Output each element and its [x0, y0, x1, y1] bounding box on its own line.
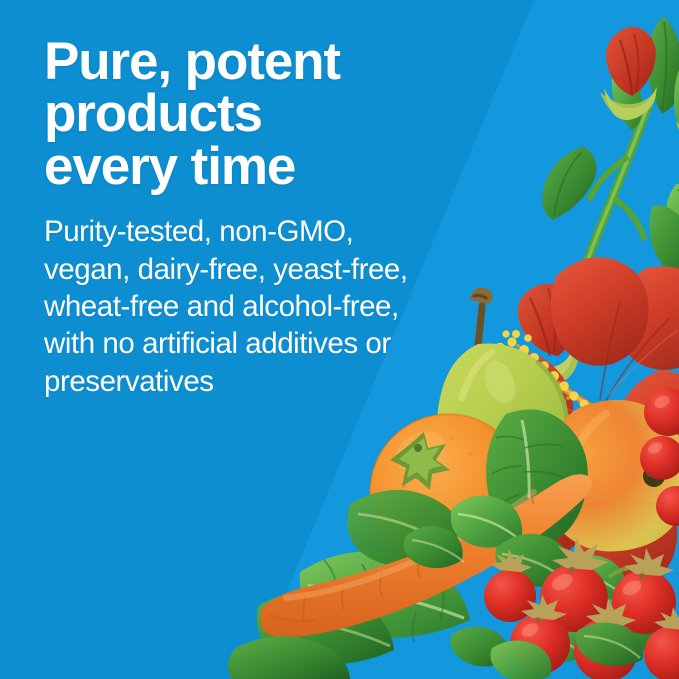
- page-title: Pure, potent products every time: [44, 36, 444, 193]
- promo-banner: Pure, potent products every time Purity-…: [0, 0, 679, 679]
- subcopy-text: Purity-tested, non-GMO, vegan, dairy-fre…: [44, 213, 414, 400]
- text-block: Pure, potent products every time Purity-…: [44, 36, 444, 400]
